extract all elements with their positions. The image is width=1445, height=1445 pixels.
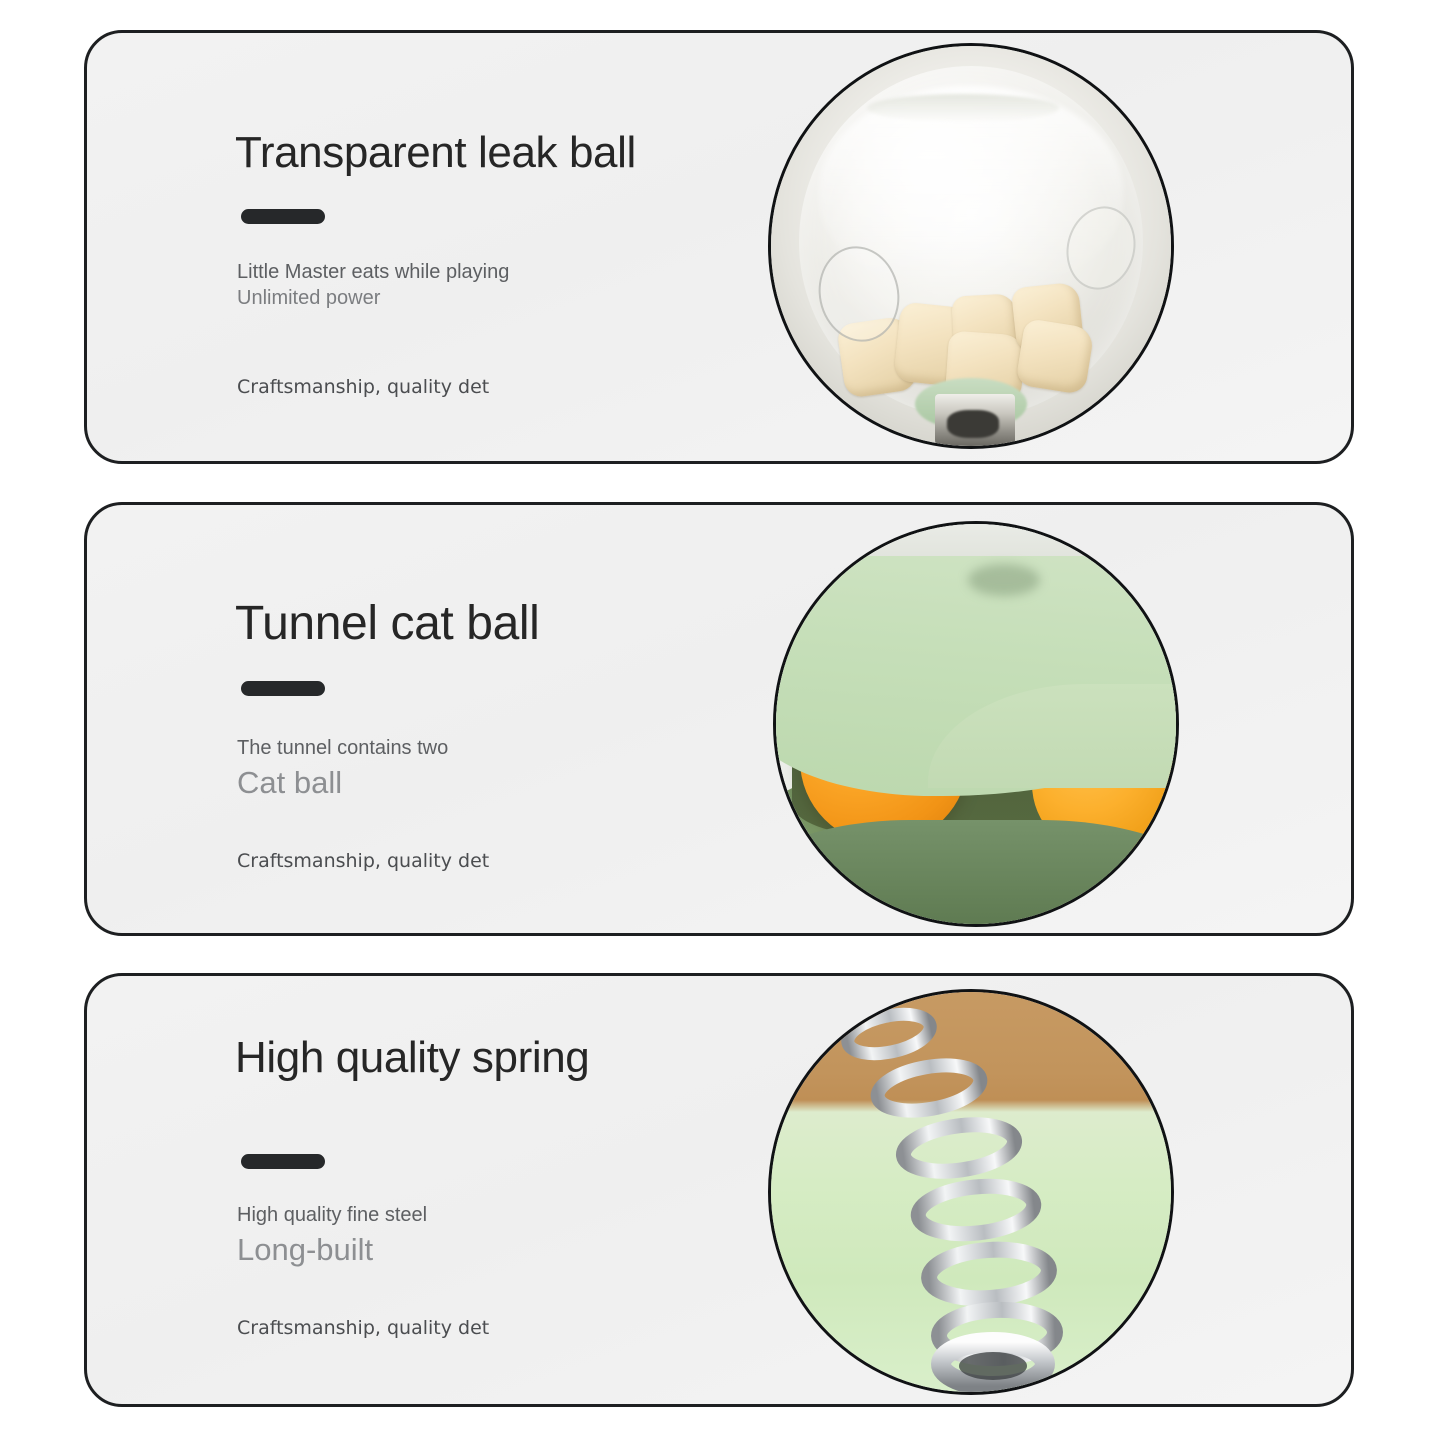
feature-subtext: High quality fine steel Long-built [237,1204,577,1268]
transparent-leak-ball-photo [768,43,1174,449]
divider-dash-icon [241,1154,325,1169]
high-quality-spring-photo [768,989,1174,1395]
product-feature-page: Transparent leak ball Little Master eats… [0,0,1445,1445]
feature-footer-note: Craftsmanship, quality det [237,375,557,401]
feature-card-transparent-leak-ball[interactable]: Transparent leak ball Little Master eats… [84,30,1354,464]
card-title: Tunnel cat ball [235,600,539,648]
card-title: High quality spring [235,1036,589,1080]
feature-subline-primary: Little Master eats while playing [237,261,577,284]
coil-spring-illustration [771,992,1171,1392]
feature-subtext: The tunnel contains two Cat ball [237,737,577,801]
feature-subline-primary: High quality fine steel [237,1204,577,1227]
divider-dash-icon [241,681,325,696]
feature-subline-primary: The tunnel contains two [237,737,577,760]
feature-footer-note: Craftsmanship, quality det [237,1316,557,1342]
feature-text-column: Tunnel cat ball The tunnel contains two … [235,505,755,933]
feature-subtext: Little Master eats while playing Unlimit… [237,261,577,312]
feature-footer-note: Craftsmanship, quality det [237,849,557,875]
tunnel-cat-ball-photo [773,521,1179,927]
feature-subline-secondary: Cat ball [237,764,577,801]
feature-subline-secondary: Unlimited power [237,284,577,312]
feature-text-column: High quality spring High quality fine st… [235,976,755,1404]
feature-card-tunnel-cat-ball[interactable]: Tunnel cat ball The tunnel contains two … [84,502,1354,936]
card-title: Transparent leak ball [235,131,636,175]
divider-dash-icon [241,209,325,224]
feature-subline-secondary: Long-built [237,1231,577,1268]
spring-detail-icon [1110,528,1132,564]
feature-card-high-quality-spring[interactable]: High quality spring High quality fine st… [84,973,1354,1407]
feature-text-column: Transparent leak ball Little Master eats… [235,33,755,461]
